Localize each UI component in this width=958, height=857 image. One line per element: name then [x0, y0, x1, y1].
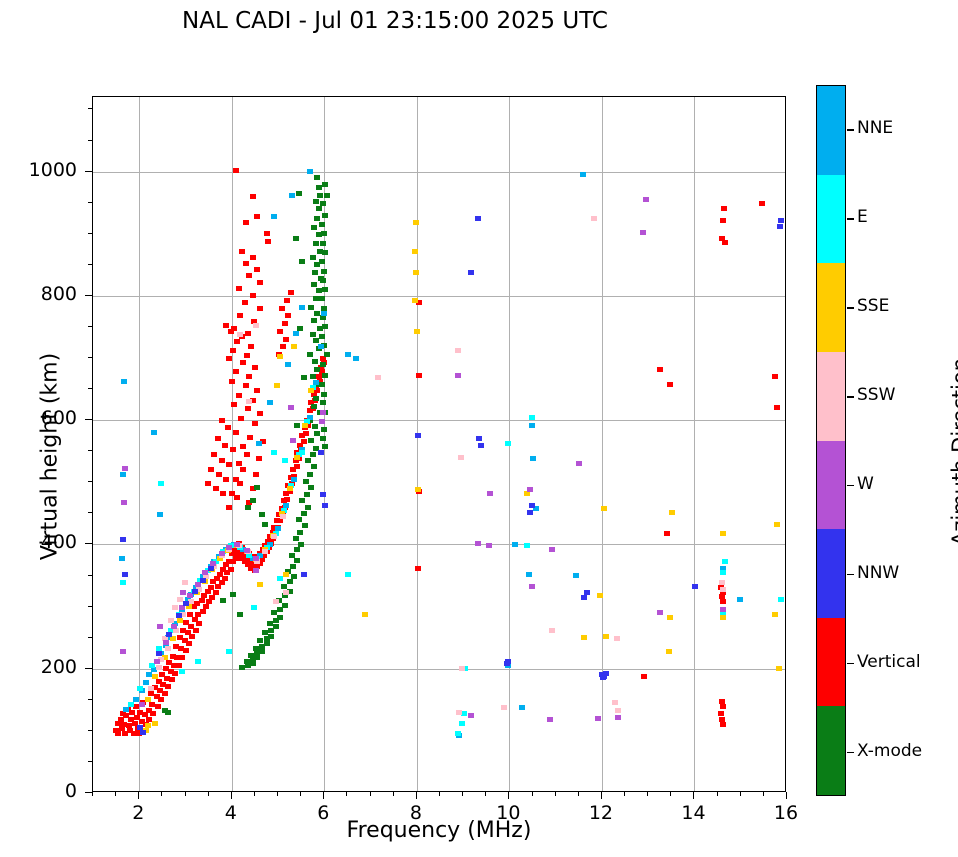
data-point [322, 373, 328, 378]
data-point [316, 206, 322, 211]
data-point [310, 332, 316, 337]
data-point [229, 379, 235, 384]
data-point [527, 510, 533, 515]
data-point [312, 359, 318, 364]
data-point [250, 498, 256, 503]
data-point [305, 458, 311, 463]
y-tick-minor [88, 326, 92, 327]
data-point [243, 383, 249, 388]
data-point [640, 230, 646, 235]
x-tick-minor [346, 792, 347, 796]
data-point [307, 352, 313, 357]
plot-area[interactable] [92, 96, 786, 792]
ionogram-figure: NAL CADI - Jul 01 23:15:00 2025 UTC 2468… [0, 0, 958, 857]
data-point [206, 599, 212, 604]
data-point [614, 636, 620, 641]
data-point [720, 722, 726, 727]
data-point [313, 199, 319, 204]
x-tick-major [416, 792, 417, 799]
data-point [225, 425, 231, 430]
data-point [223, 477, 229, 482]
data-point [244, 452, 250, 457]
data-point [277, 576, 283, 581]
data-point [311, 318, 317, 323]
data-point [718, 711, 724, 716]
data-point [505, 441, 511, 446]
data-point [319, 382, 325, 387]
data-point [319, 259, 325, 264]
data-point [271, 214, 277, 219]
x-tick-major [508, 792, 509, 799]
data-point [519, 705, 525, 710]
data-point [236, 286, 242, 291]
data-point [195, 659, 201, 664]
data-point [487, 491, 493, 496]
data-point [158, 697, 164, 702]
data-point [667, 615, 673, 620]
data-point [253, 568, 259, 573]
data-point [776, 666, 782, 671]
data-point [237, 481, 243, 486]
data-point [163, 640, 169, 645]
data-point [475, 216, 481, 221]
data-point [526, 572, 532, 577]
y-tick-minor [88, 481, 92, 482]
data-point [412, 298, 418, 303]
x-tick-minor [555, 792, 556, 796]
y-tick-minor [88, 512, 92, 513]
data-point [294, 455, 300, 460]
colorbar-segment-e[interactable] [817, 175, 845, 264]
data-point [151, 430, 157, 435]
data-point [257, 280, 263, 285]
data-point [283, 590, 289, 595]
data-point [504, 661, 510, 666]
data-point [456, 710, 462, 715]
colorbar-label-e: E [857, 207, 868, 227]
data-point [140, 730, 146, 735]
x-tick-minor [393, 792, 394, 796]
data-point [774, 405, 780, 410]
data-point [301, 572, 307, 577]
data-point [182, 580, 188, 585]
data-point [307, 169, 313, 174]
data-point [237, 612, 243, 617]
y-axis-title: Virtual height (km) [38, 307, 63, 607]
data-point [476, 436, 482, 441]
data-point [203, 604, 209, 609]
data-point [307, 472, 313, 477]
data-point [254, 485, 260, 490]
data-point [251, 605, 257, 610]
data-point [375, 375, 381, 380]
data-point [529, 584, 535, 589]
data-point [301, 511, 307, 516]
y-tick-minor [88, 637, 92, 638]
data-point [122, 466, 128, 471]
y-tick-minor [88, 761, 92, 762]
data-point [236, 461, 242, 466]
data-point [657, 367, 663, 372]
data-point [233, 430, 239, 435]
colorbar[interactable] [816, 85, 846, 796]
x-tick-minor [647, 792, 648, 796]
data-point [314, 175, 320, 180]
data-point [226, 505, 232, 510]
data-point [223, 323, 229, 328]
data-point [615, 715, 621, 720]
data-point [299, 305, 305, 310]
x-tick-minor [92, 792, 93, 796]
x-axis-title: Frequency (MHz) [92, 818, 786, 843]
data-point [303, 479, 309, 484]
data-point [271, 450, 277, 455]
data-point [312, 424, 318, 429]
colorbar-tick [847, 574, 854, 576]
data-point [179, 605, 185, 610]
data-point [321, 231, 327, 236]
data-point [308, 485, 314, 490]
data-point [304, 492, 310, 497]
x-tick-minor [277, 792, 278, 796]
data-point [322, 324, 328, 329]
figure-title: NAL CADI - Jul 01 23:15:00 2025 UTC [0, 8, 790, 34]
data-point [317, 193, 323, 198]
data-point [179, 669, 185, 674]
data-point [322, 287, 328, 292]
data-point [150, 711, 156, 716]
data-point [305, 505, 311, 510]
x-tick-minor [115, 792, 116, 796]
colorbar-tick [847, 663, 854, 665]
data-point [253, 472, 259, 477]
data-point [283, 572, 289, 577]
data-point [722, 559, 728, 564]
data-point [290, 438, 296, 443]
data-point [416, 373, 422, 378]
x-tick-major [693, 792, 694, 799]
data-point [777, 224, 783, 229]
data-point [265, 239, 271, 244]
data-point [256, 441, 262, 446]
data-point [301, 375, 307, 380]
data-point [313, 338, 319, 343]
data-point [122, 572, 128, 577]
colorbar-tick [847, 307, 854, 309]
data-point [669, 510, 675, 515]
data-point [313, 241, 319, 246]
data-point [643, 197, 649, 202]
data-point [247, 435, 253, 440]
data-point [601, 506, 607, 511]
data-point [220, 598, 226, 603]
y-tick-minor [88, 730, 92, 731]
data-point [277, 329, 283, 334]
data-point [299, 498, 305, 503]
y-tick-minor [88, 233, 92, 234]
data-point [228, 567, 234, 572]
data-point [248, 344, 254, 349]
data-point [277, 518, 283, 523]
y-tick-major [85, 668, 92, 669]
data-point [120, 580, 126, 585]
data-point [320, 241, 326, 246]
data-point [176, 663, 182, 668]
data-point [720, 599, 726, 604]
data-point [183, 601, 189, 606]
data-point [524, 543, 530, 548]
data-points-layer [93, 97, 785, 791]
data-point [720, 607, 726, 612]
data-point [291, 344, 297, 349]
colorbar-segment-vertical[interactable] [817, 618, 845, 707]
y-tick-label: 0 [0, 780, 77, 802]
data-point [759, 201, 765, 206]
data-point [172, 671, 178, 676]
colorbar-label-sse: SSE [857, 296, 889, 316]
data-point [253, 556, 259, 561]
data-point [148, 686, 154, 691]
data-point [211, 452, 217, 457]
x-tick-minor [740, 792, 741, 796]
data-point [234, 495, 240, 500]
data-point [252, 421, 258, 426]
data-point [236, 393, 242, 398]
data-point [243, 220, 249, 225]
data-point [177, 618, 183, 623]
data-point [301, 439, 307, 444]
data-point [245, 663, 251, 668]
x-tick-minor [161, 792, 162, 796]
data-point [252, 365, 258, 370]
data-point [297, 530, 303, 535]
data-point [314, 367, 320, 372]
data-point [222, 443, 228, 448]
x-tick-minor [485, 792, 486, 796]
data-point [279, 306, 285, 311]
data-point [603, 634, 609, 639]
data-point [200, 578, 206, 583]
data-point [120, 649, 126, 654]
data-point [257, 306, 263, 311]
data-point [719, 594, 725, 599]
data-point [320, 362, 326, 367]
data-point [208, 566, 214, 571]
data-point [296, 191, 302, 196]
data-point [287, 486, 293, 491]
data-point [549, 547, 555, 552]
data-point [319, 296, 325, 301]
data-point [721, 206, 727, 211]
data-point [243, 261, 249, 266]
data-point [413, 270, 419, 275]
colorbar-segment-nne[interactable] [817, 86, 845, 175]
data-point [719, 580, 725, 585]
data-point [666, 649, 672, 654]
data-point [183, 648, 189, 653]
data-point [237, 332, 243, 337]
data-point [238, 416, 244, 421]
data-point [285, 313, 291, 318]
data-point [162, 691, 168, 696]
data-point [772, 612, 778, 617]
data-point [268, 628, 274, 633]
data-point [308, 438, 314, 443]
colorbar-label-ssw: SSW [857, 385, 895, 405]
data-point [321, 311, 327, 316]
data-point [455, 373, 461, 378]
x-tick-minor [717, 792, 718, 796]
y-tick-minor [88, 575, 92, 576]
x-tick-minor [254, 792, 255, 796]
data-point [322, 444, 328, 449]
data-point [253, 323, 259, 328]
data-point [322, 182, 328, 187]
data-point [459, 721, 465, 726]
colorbar-segment-ssw[interactable] [817, 352, 845, 441]
data-point [240, 444, 246, 449]
y-tick-minor [88, 264, 92, 265]
data-point [501, 705, 507, 710]
data-point [254, 267, 260, 272]
colorbar-segment-w[interactable] [817, 441, 845, 530]
data-point [277, 354, 283, 359]
data-point [692, 584, 698, 589]
x-tick-minor [532, 792, 533, 796]
data-point [230, 348, 236, 353]
data-point [213, 486, 219, 491]
data-point [237, 313, 243, 318]
data-point [256, 456, 262, 461]
y-tick-minor [88, 140, 92, 141]
data-point [320, 201, 326, 206]
data-point [222, 576, 228, 581]
data-point [158, 481, 164, 486]
data-point [123, 707, 129, 712]
data-point [277, 607, 283, 612]
data-point [271, 534, 277, 539]
data-point [314, 216, 320, 221]
x-tick-minor [370, 792, 371, 796]
data-point [120, 472, 126, 477]
data-point [250, 293, 256, 298]
data-point [283, 337, 289, 342]
data-point [273, 618, 279, 623]
data-point [413, 220, 419, 225]
data-point [230, 592, 236, 597]
data-point [303, 431, 309, 436]
data-point [154, 659, 160, 664]
data-point [179, 655, 185, 660]
data-point [353, 356, 359, 361]
data-point [302, 423, 308, 428]
data-point [576, 461, 582, 466]
x-tick-minor [578, 792, 579, 796]
data-point [293, 331, 299, 336]
data-point [245, 331, 251, 336]
data-point [193, 628, 199, 633]
data-point [219, 551, 225, 556]
data-point [239, 665, 245, 670]
data-point [324, 193, 330, 198]
data-point [220, 491, 226, 496]
data-point [128, 702, 134, 707]
y-tick-minor [88, 699, 92, 700]
colorbar-segment-sse[interactable] [817, 263, 845, 352]
data-point [246, 273, 252, 278]
data-point [169, 677, 175, 682]
colorbar-tick [847, 485, 854, 487]
data-point [208, 467, 214, 472]
x-tick-minor [763, 792, 764, 796]
x-tick-major [786, 792, 787, 799]
data-point [246, 374, 252, 379]
data-point [213, 590, 219, 595]
data-point [455, 731, 461, 736]
data-point [580, 172, 586, 177]
data-point [302, 523, 308, 528]
y-tick-label: 200 [0, 656, 77, 678]
data-point [657, 610, 663, 615]
data-point [299, 259, 305, 264]
data-point [549, 628, 555, 633]
colorbar-label-vertical: Vertical [857, 652, 921, 672]
data-point [294, 423, 300, 428]
x-tick-minor [300, 792, 301, 796]
data-point [310, 374, 316, 379]
data-point [345, 572, 351, 577]
data-point [455, 348, 461, 353]
data-point [311, 404, 317, 409]
data-point [186, 641, 192, 646]
data-point [720, 570, 726, 575]
data-point [362, 612, 368, 617]
data-point [250, 194, 256, 199]
data-point [529, 423, 535, 428]
data-point [600, 675, 606, 680]
data-point [240, 360, 246, 365]
y-tick-major [85, 295, 92, 296]
data-point [119, 556, 125, 561]
data-point [319, 334, 325, 339]
data-point [720, 704, 726, 709]
data-point [219, 418, 225, 423]
colorbar-tick [847, 218, 854, 220]
data-point [171, 624, 177, 629]
data-point [282, 458, 288, 463]
data-point [257, 582, 263, 587]
data-point [581, 635, 587, 640]
data-point [157, 512, 163, 517]
data-point [547, 717, 553, 722]
x-tick-minor [185, 792, 186, 796]
y-tick-label: 800 [0, 283, 77, 305]
data-point [415, 566, 421, 571]
data-point [155, 704, 161, 709]
colorbar-label-w: W [857, 474, 874, 494]
data-point [527, 487, 533, 492]
data-point [234, 339, 240, 344]
colorbar-segment-x-mode[interactable] [817, 706, 845, 795]
data-point [512, 542, 518, 547]
colorbar-segment-nnw[interactable] [817, 529, 845, 618]
data-point [201, 593, 207, 598]
data-point [289, 193, 295, 198]
y-tick-minor [88, 450, 92, 451]
data-point [321, 392, 327, 397]
data-point [322, 503, 328, 508]
data-point [468, 270, 474, 275]
